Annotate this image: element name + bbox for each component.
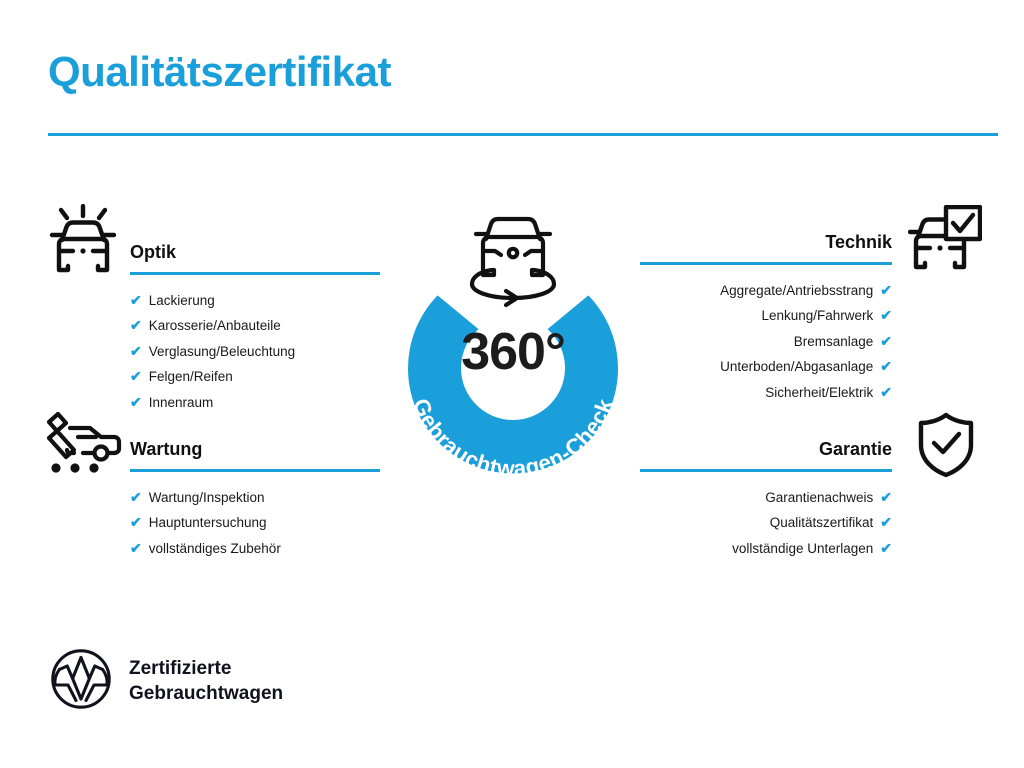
list-item: ✔Lackierung [130, 288, 380, 314]
section-divider-wartung [130, 469, 380, 472]
list-item: Lenkung/Fahrwerk✔ [640, 303, 892, 329]
list-item: ✔Hauptuntersuchung [130, 510, 380, 536]
list-item-label: Karosserie/Anbauteile [149, 318, 281, 333]
check-icon: ✔ [880, 485, 892, 510]
check-icon: ✔ [130, 339, 142, 364]
section-title-optik: Optik [130, 243, 380, 263]
section-divider-optik [130, 272, 380, 275]
list-item-label: Unterboden/Abgasanlage [720, 359, 873, 374]
list-item: Bremsanlage✔ [640, 329, 892, 355]
list-item: ✔Karosserie/Anbauteile [130, 313, 380, 339]
page-title: Qualitätszertifikat [48, 50, 391, 94]
shield-check-icon [916, 412, 976, 483]
list-item-label: Aggregate/Antriebsstrang [720, 283, 873, 298]
list-item-label: Lackierung [149, 293, 215, 308]
check-icon: ✔ [130, 288, 142, 313]
section-list-optik: ✔Lackierung ✔Karosserie/Anbauteile ✔Verg… [130, 288, 380, 416]
list-item-label: Felgen/Reifen [149, 369, 233, 384]
vw-logo-icon [50, 648, 112, 715]
section-garantie: Garantie Garantienachweis✔ Qualitätszert… [640, 440, 892, 561]
list-item-label: Verglasung/Beleuchtung [149, 344, 295, 359]
list-item: Sicherheit/Elektrik✔ [640, 380, 892, 406]
check-icon: ✔ [130, 536, 142, 561]
list-item: Garantienachweis✔ [640, 485, 892, 511]
section-divider-garantie [640, 469, 892, 472]
check-icon: ✔ [130, 364, 142, 389]
list-item: ✔vollständiges Zubehör [130, 536, 380, 562]
check-icon: ✔ [880, 278, 892, 303]
list-item-label: Lenkung/Fahrwerk [761, 308, 873, 323]
list-item-label: vollständige Unterlagen [732, 541, 873, 556]
list-item: Unterboden/Abgasanlage✔ [640, 354, 892, 380]
check-icon: ✔ [130, 313, 142, 338]
certificate-page: Qualitätszertifikat [0, 0, 1024, 768]
list-item: ✔Verglasung/Beleuchtung [130, 339, 380, 365]
section-title-technik: Technik [640, 233, 892, 253]
list-item-label: Hauptuntersuchung [149, 515, 267, 530]
check-icon: ✔ [880, 329, 892, 354]
check-icon: ✔ [880, 510, 892, 535]
badge-value: 360° [372, 326, 654, 378]
section-list-wartung: ✔Wartung/Inspektion ✔Hauptuntersuchung ✔… [130, 485, 380, 562]
section-list-garantie: Garantienachweis✔ Qualitätszertifikat✔ v… [640, 485, 892, 562]
check-icon: ✔ [130, 485, 142, 510]
check-icon: ✔ [130, 390, 142, 415]
section-title-wartung: Wartung [130, 440, 380, 460]
car-front-shine-icon [44, 204, 122, 279]
list-item: ✔Felgen/Reifen [130, 364, 380, 390]
check-icon: ✔ [880, 380, 892, 405]
section-list-technik: Aggregate/Antriebsstrang✔ Lenkung/Fahrwe… [640, 278, 892, 406]
list-item: ✔Wartung/Inspektion [130, 485, 380, 511]
section-optik: Optik ✔Lackierung ✔Karosserie/Anbauteile… [130, 243, 380, 415]
car-front-checkbox-icon [908, 205, 982, 276]
section-title-garantie: Garantie [640, 440, 892, 460]
check-icon: ✔ [880, 536, 892, 561]
car-service-wrench-icon [44, 412, 122, 479]
check-icon: ✔ [880, 354, 892, 379]
list-item-label: Wartung/Inspektion [149, 490, 265, 505]
header-divider [48, 133, 998, 136]
badge-360-check: Gebrauchtwagen-Check 360° [372, 196, 654, 486]
list-item: Aggregate/Antriebsstrang✔ [640, 278, 892, 304]
footer-logo: Zertifizierte Gebrauchtwagen [50, 648, 283, 715]
check-icon: ✔ [880, 303, 892, 328]
list-item-label: vollständiges Zubehör [149, 541, 281, 556]
section-technik: Technik Aggregate/Antriebsstrang✔ Lenkun… [640, 233, 892, 405]
section-wartung: Wartung ✔Wartung/Inspektion ✔Hauptunters… [130, 440, 380, 561]
list-item-label: Qualitätszertifikat [770, 515, 874, 530]
car-rotate-360-icon [472, 219, 554, 305]
list-item-label: Garantienachweis [765, 490, 873, 505]
list-item: vollständige Unterlagen✔ [640, 536, 892, 562]
footer-logo-text: Zertifizierte Gebrauchtwagen [129, 657, 283, 706]
list-item: Qualitätszertifikat✔ [640, 510, 892, 536]
list-item-label: Bremsanlage [794, 334, 874, 349]
list-item-label: Sicherheit/Elektrik [765, 385, 873, 400]
check-icon: ✔ [130, 510, 142, 535]
list-item: ✔Innenraum [130, 390, 380, 416]
list-item-label: Innenraum [149, 395, 214, 410]
section-divider-technik [640, 262, 892, 265]
